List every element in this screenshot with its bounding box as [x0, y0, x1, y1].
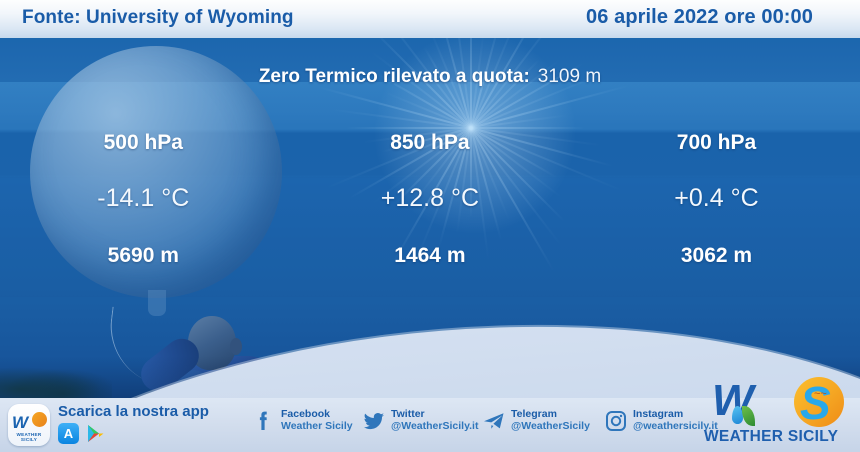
facebook-handle: Weather Sicily: [281, 421, 353, 433]
logo-bird-icon: ~~: [814, 388, 827, 400]
google-play-icon[interactable]: [85, 423, 106, 444]
instagram-icon: [604, 409, 628, 433]
twitter-handle: @WeatherSicily.it: [391, 421, 478, 433]
social-link-telegram[interactable]: Telegram @WeatherSicily: [482, 409, 590, 433]
level-column-500hpa: 500 hPa -14.1 °C 5690 m: [0, 132, 287, 266]
app-icon[interactable]: W WEATHER SICILY: [8, 404, 50, 446]
zero-thermal-label: Zero Termico rilevato a quota:: [259, 66, 530, 87]
social-link-twitter[interactable]: Twitter @WeatherSicily.it: [362, 409, 478, 433]
temperature-value-500: -14.1 °C: [0, 186, 287, 211]
facebook-icon: [252, 409, 276, 433]
twitter-icon: [362, 409, 386, 433]
app-store-icon[interactable]: [58, 423, 79, 444]
logo-brand-name: Weather Sicily: [704, 428, 838, 446]
download-app-label: Scarica la nostra app: [58, 403, 209, 420]
store-badges: [58, 423, 106, 444]
app-icon-sun: [32, 412, 47, 427]
pressure-label-850: 850 hPa: [287, 132, 574, 153]
app-icon-caption: WEATHER SICILY: [11, 432, 47, 442]
altitude-value-500: 5690 m: [0, 245, 287, 266]
social-link-facebook[interactable]: Facebook Weather Sicily: [252, 409, 353, 433]
telegram-icon: [482, 409, 506, 433]
weather-sounding-card: Fonte: University of Wyoming 06 aprile 2…: [0, 0, 860, 452]
level-column-850hpa: 850 hPa +12.8 °C 1464 m: [287, 132, 574, 266]
zero-thermal-row: Zero Termico rilevato a quota:3109 m: [0, 66, 860, 88]
pressure-label-700: 700 hPa: [573, 132, 860, 153]
altitude-value-850: 1464 m: [287, 245, 574, 266]
app-icon-w-letter: W: [12, 413, 27, 433]
logo-s-letter: S: [800, 376, 829, 430]
temperature-value-850: +12.8 °C: [287, 186, 574, 211]
temperature-value-700: +0.4 °C: [573, 186, 860, 211]
header-bar: Fonte: University of Wyoming 06 aprile 2…: [0, 0, 860, 38]
level-column-700hpa: 700 hPa +0.4 °C 3062 m: [573, 132, 860, 266]
observation-datetime: 06 aprile 2022 ore 00:00: [586, 6, 813, 29]
telegram-handle: @WeatherSicily: [511, 421, 590, 433]
weather-sicily-logo: W S ~~ Weather Sicily: [702, 374, 854, 450]
pressure-label-500: 500 hPa: [0, 132, 287, 153]
data-source-label: Fonte: University of Wyoming: [22, 7, 294, 29]
pressure-levels: 500 hPa -14.1 °C 5690 m 850 hPa +12.8 °C…: [0, 132, 860, 266]
altitude-value-700: 3062 m: [573, 245, 860, 266]
zero-thermal-value: 3109 m: [538, 66, 601, 87]
social-link-instagram[interactable]: Instagram @weathersicily.it: [604, 409, 718, 433]
